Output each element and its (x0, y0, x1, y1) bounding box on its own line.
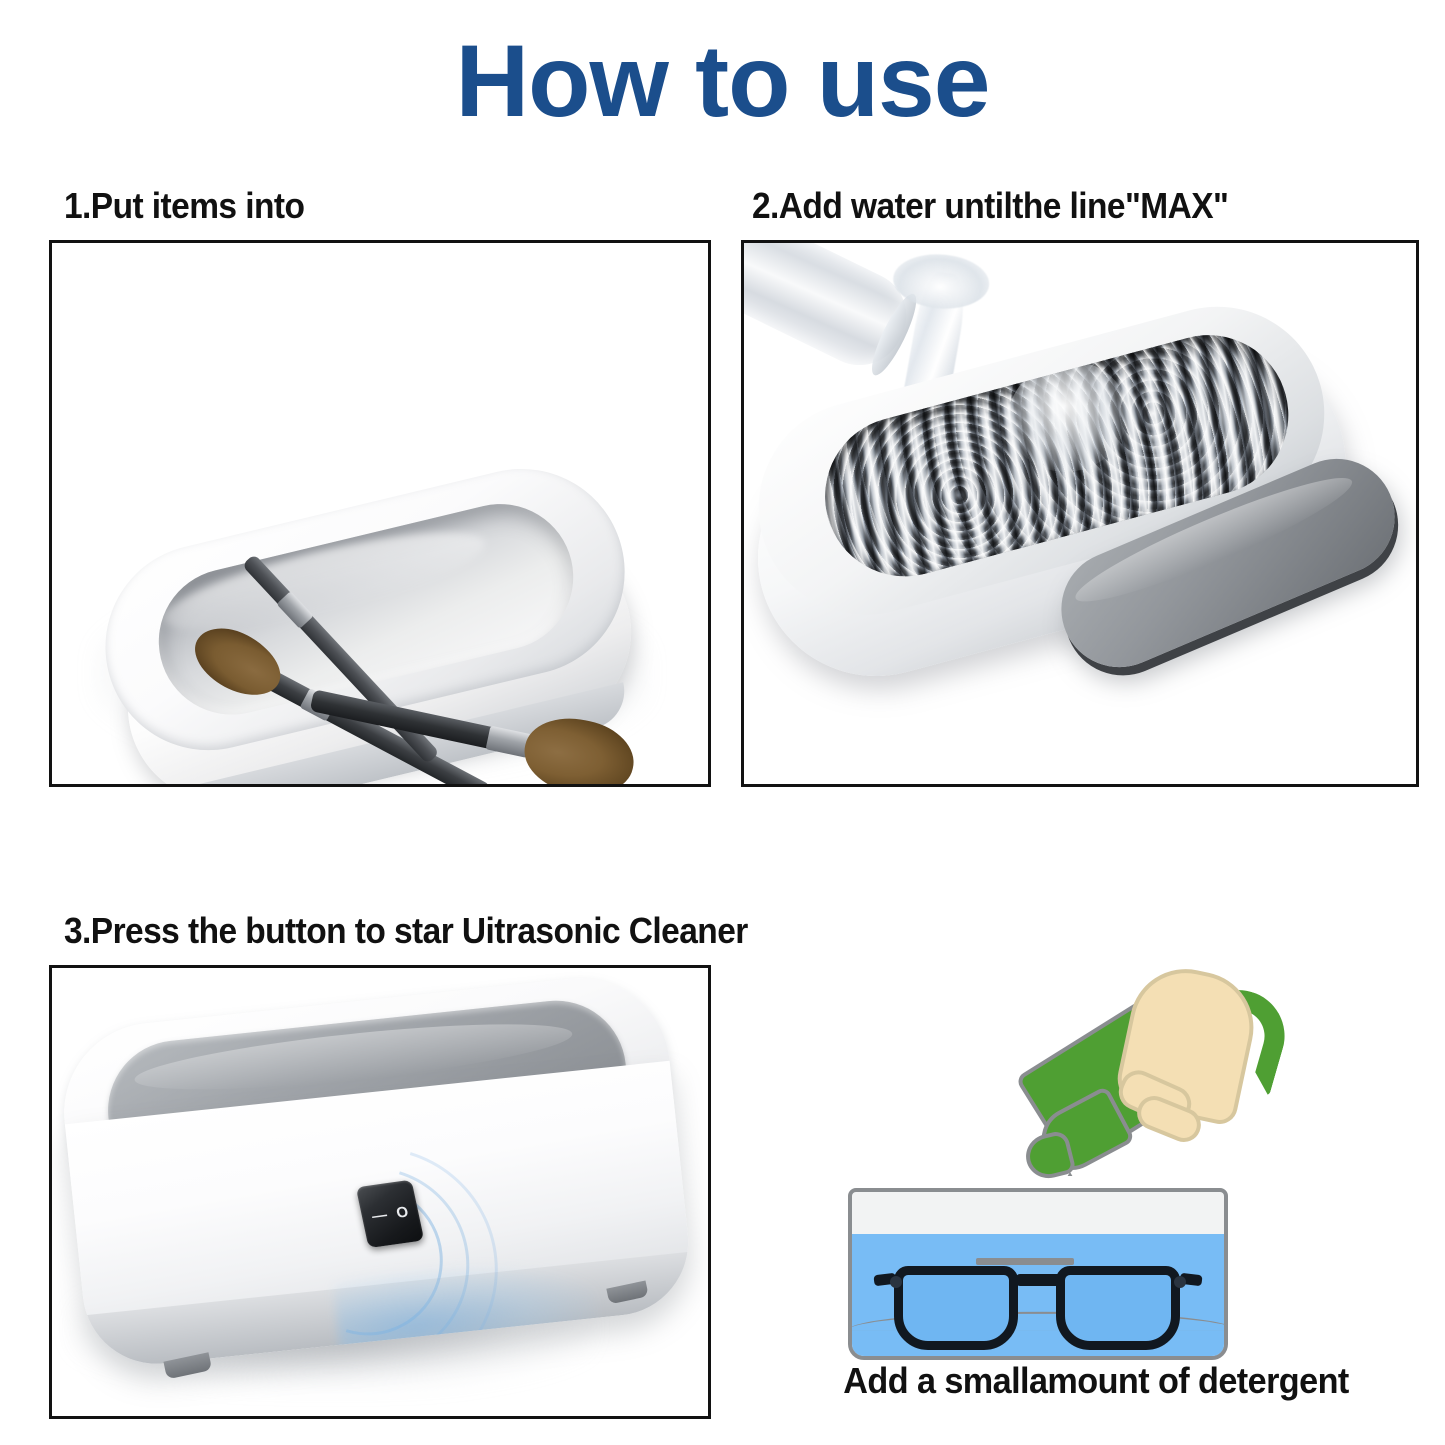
water-tank-cutaway (848, 1188, 1228, 1360)
step-1-heading: 1.Put items into (64, 188, 304, 224)
closed-device-running-illustration: — O (52, 968, 708, 1416)
lens-right (1056, 1266, 1180, 1350)
eyeglasses-icon (888, 1266, 1188, 1354)
glasses-bridge (1016, 1274, 1064, 1286)
step-1-image-panel (49, 240, 711, 787)
max-level-line (976, 1258, 1074, 1265)
glasses-hinge-right (1174, 1276, 1186, 1288)
page-title: How to use (0, 26, 1445, 136)
step-2-heading: 2.Add water untilthe line"MAX" (752, 188, 1228, 224)
water-glass (741, 240, 921, 380)
open-tank-with-brushes-illustration (52, 243, 708, 784)
detergent-caption: Add a smallamount of detergent (773, 1363, 1419, 1399)
switch-on-mark: — (370, 1207, 388, 1224)
step-3-image-panel: — O (49, 965, 711, 1419)
detergent-illustration (840, 966, 1420, 1356)
lens-left (894, 1266, 1018, 1350)
pouring-water-illustration (744, 243, 1416, 784)
step-2-image-panel (741, 240, 1419, 787)
switch-off-mark: O (395, 1204, 410, 1220)
glasses-hinge-left (890, 1276, 902, 1288)
how-to-use-page: How to use 1.Put items into (0, 0, 1445, 1445)
step-3-heading: 3.Press the button to star Uitrasonic Cl… (64, 913, 748, 949)
ultrasonic-cleaner-closed: — O (49, 969, 706, 1419)
